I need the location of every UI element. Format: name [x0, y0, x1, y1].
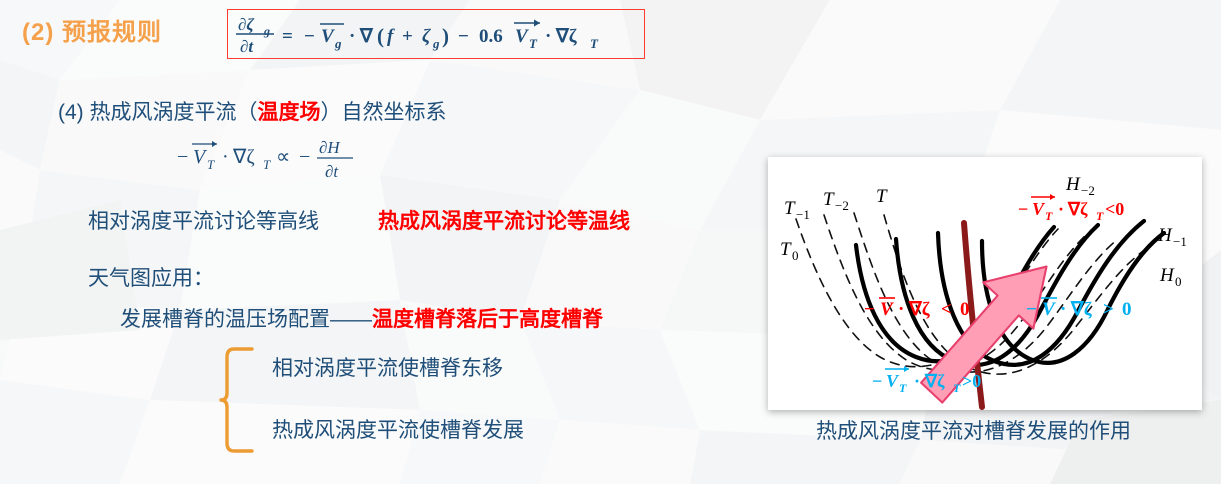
- slide-canvas: (2) 预报规则 ∂ζ g ∂t = − V g · ∇ (: [0, 0, 1221, 484]
- thermal-vorticity-line: 热成风涡度平流讨论等温线: [378, 205, 630, 235]
- svg-text:·: ·: [898, 299, 904, 320]
- item-4-suffix: ）自然坐标系: [321, 101, 447, 124]
- annotation-thermal-positive: − V T · ∇ζ T >0: [872, 366, 981, 395]
- svg-text:∝: ∝: [276, 146, 290, 168]
- svg-text:·: ·: [222, 146, 229, 168]
- svg-text:−: −: [1026, 299, 1037, 320]
- svg-text:−: −: [458, 26, 469, 47]
- label-T: T: [876, 186, 888, 207]
- svg-text:T: T: [1096, 209, 1104, 223]
- svg-text:∇ζ: ∇ζ: [232, 146, 255, 168]
- label-T-minus-2: T: [823, 189, 835, 210]
- svg-text:V: V: [886, 371, 900, 391]
- svg-text:0: 0: [960, 299, 970, 320]
- svg-text:−2: −2: [835, 198, 849, 213]
- svg-text:·: ·: [914, 371, 920, 391]
- svg-text:T: T: [590, 36, 599, 51]
- label-H-minus-1: H: [1157, 225, 1173, 246]
- svg-text:·: ·: [545, 26, 551, 47]
- thermal-advection-formula: − V T · ∇ζ T ∝ − ∂H ∂t: [175, 131, 375, 190]
- svg-text:0: 0: [1175, 274, 1182, 289]
- svg-text:−: −: [1018, 199, 1028, 219]
- svg-text:T: T: [263, 157, 271, 172]
- annotation-thermal-negative: − V T · ∇ζ T <0: [1018, 194, 1124, 223]
- svg-text:ζ: ζ: [422, 26, 431, 47]
- svg-text:∇ζ: ∇ζ: [924, 371, 945, 391]
- brace-item-2: 热成风涡度平流使槽脊发展: [272, 414, 524, 444]
- diagram-panel: T −1 T −2 T T 0 H −2 H −1 H 0 − V: [768, 157, 1202, 410]
- svg-text:V: V: [321, 26, 335, 47]
- svg-text:0: 0: [792, 248, 799, 263]
- item-4-line: (4) 热成风涡度平流（温度场）自然坐标系: [58, 96, 447, 126]
- svg-text:∂t: ∂t: [325, 162, 339, 181]
- svg-text:∂t: ∂t: [240, 37, 254, 56]
- svg-text:>: >: [1103, 299, 1114, 320]
- svg-text:): ): [442, 24, 449, 48]
- svg-text:T: T: [899, 381, 907, 395]
- main-formula-box: ∂ζ g ∂t = − V g · ∇ ( f + ζ g ): [227, 9, 645, 59]
- item-4-prefix: (4) 热成风涡度平流（: [58, 101, 258, 124]
- label-H-minus-2: H: [1065, 174, 1081, 195]
- diagram-caption: 热成风涡度平流对槽脊发展的作用: [816, 415, 1131, 445]
- svg-text:−: −: [872, 371, 882, 391]
- label-H-0: H: [1159, 265, 1175, 286]
- svg-text:f: f: [387, 26, 395, 47]
- svg-text:V: V: [1032, 199, 1046, 219]
- svg-text:∇ζ: ∇ζ: [1067, 199, 1088, 219]
- svg-text:>0: >0: [962, 371, 981, 391]
- label-T-minus-1: T: [784, 198, 796, 219]
- trough-ridge-diagram: T −1 T −2 T T 0 H −2 H −1 H 0 − V: [768, 157, 1202, 410]
- weather-map-line: 天气图应用：: [88, 262, 214, 292]
- svg-text:·: ·: [1060, 299, 1066, 320]
- relative-vorticity-line: 相对涡度平流讨论等高线: [88, 205, 319, 235]
- svg-text:g: g: [432, 36, 440, 51]
- svg-text:0: 0: [1122, 299, 1132, 320]
- item-4-highlight: 温度场: [258, 101, 321, 124]
- svg-text:g: g: [263, 24, 270, 38]
- config-line: 发展槽脊的温压场配置——温度槽脊落后于高度槽脊: [120, 303, 603, 333]
- svg-text:∂H: ∂H: [319, 138, 341, 157]
- label-T-0: T: [780, 239, 792, 260]
- svg-text:−1: −1: [796, 207, 810, 222]
- thermal-advection-formula-svg: − V T · ∇ζ T ∝ − ∂H ∂t: [175, 131, 375, 185]
- svg-text:·: ·: [1058, 199, 1064, 219]
- svg-text:T: T: [953, 381, 961, 395]
- brace-item-1: 相对涡度平流使槽脊东移: [272, 352, 503, 382]
- svg-text:V: V: [515, 26, 529, 47]
- svg-text:V: V: [193, 146, 208, 168]
- svg-text:(: (: [377, 24, 384, 48]
- main-formula: ∂ζ g ∂t = − V g · ∇ ( f + ζ g ): [232, 11, 640, 57]
- svg-text:∇ζ: ∇ζ: [908, 299, 931, 320]
- svg-text:=: =: [282, 26, 293, 47]
- svg-text:−1: −1: [1173, 234, 1187, 249]
- page-title: (2) 预报规则: [22, 12, 162, 47]
- svg-text:∇ζ: ∇ζ: [555, 26, 578, 47]
- svg-text:0.6: 0.6: [479, 26, 503, 47]
- svg-text:∂ζ: ∂ζ: [238, 15, 254, 34]
- svg-text:T: T: [207, 157, 215, 172]
- svg-text:V: V: [880, 299, 894, 320]
- svg-text:T: T: [529, 36, 538, 51]
- svg-text:−2: −2: [1081, 183, 1095, 198]
- svg-text:−: −: [299, 146, 310, 168]
- config-prefix: 发展槽脊的温压场配置——: [120, 308, 372, 331]
- svg-text:g: g: [334, 36, 342, 51]
- svg-text:<: <: [941, 299, 952, 320]
- svg-text:·: ·: [349, 26, 355, 47]
- svg-text:T: T: [1045, 209, 1053, 223]
- svg-text:−: −: [864, 299, 875, 320]
- svg-text:V: V: [1042, 299, 1056, 320]
- svg-text:<0: <0: [1105, 199, 1124, 219]
- svg-text:∇ζ: ∇ζ: [1070, 299, 1093, 320]
- config-highlight: 温度槽脊落后于高度槽脊: [372, 308, 603, 331]
- svg-text:−: −: [304, 26, 315, 47]
- svg-text:−: −: [177, 146, 188, 168]
- svg-text:∇: ∇: [359, 26, 374, 47]
- svg-text:+: +: [402, 26, 413, 47]
- brace-icon: [218, 345, 258, 455]
